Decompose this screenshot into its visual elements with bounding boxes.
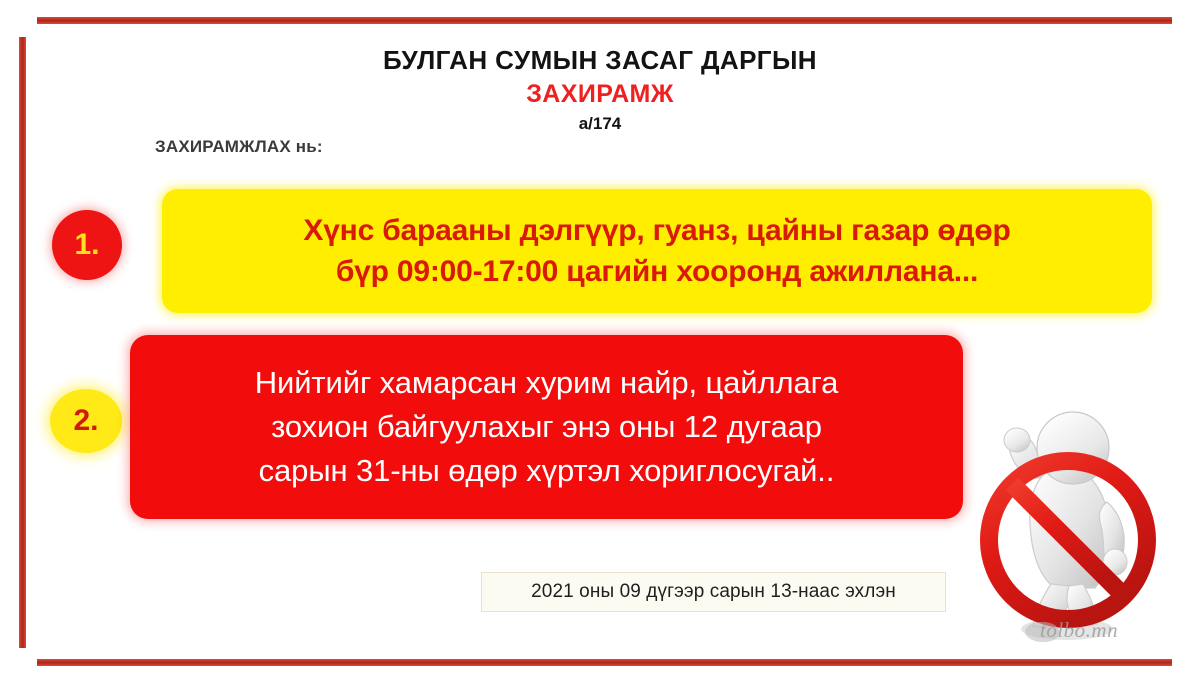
order-intro-label: ЗАХИРАМЖЛАХ нь: xyxy=(155,137,323,157)
frame-bar-top xyxy=(37,17,1172,24)
frame-bar-bottom xyxy=(37,659,1172,666)
order-item-1-line-2: бүр 09:00-17:00 цагийн хооронд ажиллана.… xyxy=(336,251,978,292)
document-number: а/174 xyxy=(0,114,1200,134)
order-item-2-box: Нийтийг хамарсан хурим найр, цайллага зо… xyxy=(130,335,963,519)
watermark-blob-icon xyxy=(1025,622,1059,642)
document-type-title: ЗАХИРАМЖ xyxy=(0,80,1200,109)
order-item-2-line-2: зохион байгуулахыг энэ оны 12 дугаар xyxy=(271,405,822,449)
document-header: БУЛГАН СУМЫН ЗАСАГ ДАРГЫН ЗАХИРАМЖ а/174 xyxy=(0,46,1200,133)
order-item-1-box: Хүнс барааны дэлгүүр, гуанз, цайны газар… xyxy=(162,189,1152,313)
no-person-prohibition-icon xyxy=(955,398,1190,660)
item-number-badge-2: 2. xyxy=(50,389,122,453)
order-item-2-line-3: сарын 31-ны өдөр хүртэл хориглосугай.. xyxy=(259,449,835,493)
issuing-authority-title: БУЛГАН СУМЫН ЗАСАГ ДАРГЫН xyxy=(0,46,1200,76)
effective-date-note: 2021 оны 09 дүгээр сарын 13-наас эхлэн xyxy=(481,572,946,612)
order-item-2-line-1: Нийтийг хамарсан хурим найр, цайллага xyxy=(255,361,839,405)
order-item-1-line-1: Хүнс барааны дэлгүүр, гуанз, цайны газар… xyxy=(303,210,1010,251)
poster-canvas: БУЛГАН СУМЫН ЗАСАГ ДАРГЫН ЗАХИРАМЖ а/174… xyxy=(0,0,1200,676)
item-number-badge-1: 1. xyxy=(52,210,122,280)
